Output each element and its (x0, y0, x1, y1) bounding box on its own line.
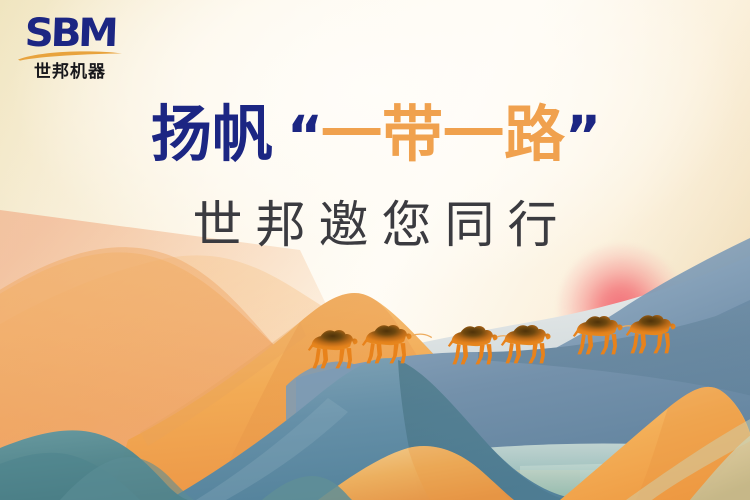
logo-wordmark-wrap: SBM (16, 12, 124, 58)
logo-swoosh-icon (17, 50, 123, 61)
promo-banner: SBM 世邦机器 扬帆“一带一路” 世邦邀您同行 (0, 0, 750, 500)
headline-open-quote: “ (287, 104, 321, 168)
headline-lead: 扬帆 (151, 99, 273, 170)
subheadline: 世邦邀您同行 (0, 194, 750, 256)
sbm-logo[interactable]: SBM 世邦机器 (16, 12, 124, 82)
logo-chinese-name: 世邦机器 (16, 63, 124, 82)
headline-slogan: 一带一路 (321, 99, 565, 170)
headline-close-quote: ” (565, 104, 599, 168)
headline: 扬帆“一带一路” (0, 98, 750, 173)
